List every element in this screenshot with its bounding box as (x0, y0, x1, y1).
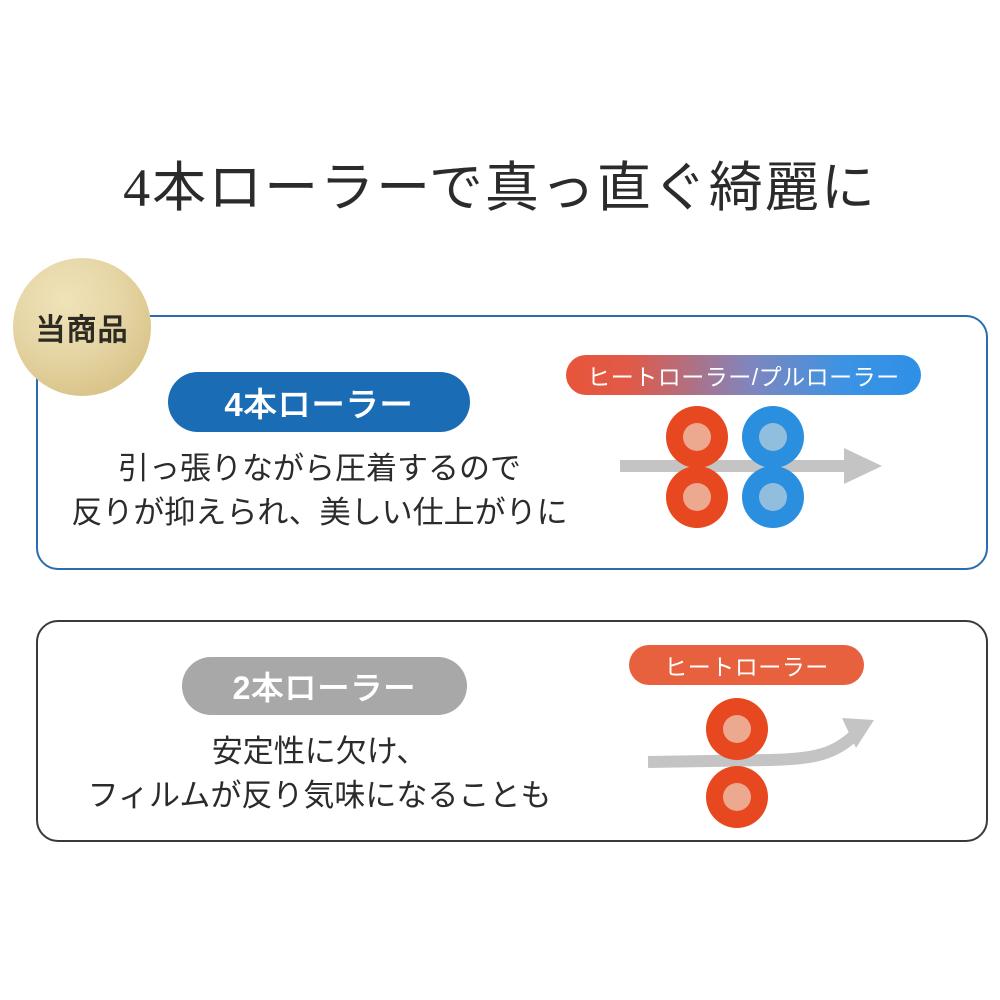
description-four-roller-line1: 引っ張りながら圧着するので (62, 447, 577, 491)
heat-roller-bottom-left (666, 466, 728, 528)
label-heat-roller: ヒートローラー (629, 645, 864, 685)
description-two-roller-line2: フィルムが反り気味になることも (62, 774, 577, 818)
diagram-two-roller (620, 690, 950, 840)
label-heat-pull-roller-text: ヒートローラー/プルローラー (587, 358, 899, 392)
description-four-roller: 引っ張りながら圧着するので 反りが抑えられ、美しい仕上がりに (62, 447, 577, 535)
heat-roller-top-core (723, 715, 751, 743)
pull-roller-bottom-right-core (759, 483, 787, 511)
film-path-curved-arrow (620, 690, 950, 840)
heat-roller-top-left (666, 406, 728, 468)
pull-roller-top-right-core (759, 423, 787, 451)
label-heat-roller-text: ヒートローラー (664, 648, 829, 682)
pull-roller-bottom-right (742, 466, 804, 528)
label-heat-pull-roller: ヒートローラー/プルローラー (566, 355, 921, 395)
tag-two-roller: 2本ローラー (182, 657, 467, 715)
description-two-roller: 安定性に欠け、 フィルムが反り気味になることも (62, 730, 577, 818)
tag-four-roller: 4本ローラー (168, 372, 470, 432)
this-product-badge: 当商品 (13, 258, 151, 396)
infographic-stage: 4本ローラーで真っ直ぐ綺麗に 当商品 4本ローラー 引っ張りながら圧着するので … (0, 0, 1000, 1000)
tag-two-roller-label: 2本ローラー (233, 663, 417, 709)
description-four-roller-line2: 反りが抑えられ、美しい仕上がりに (62, 491, 577, 535)
heat-roller-top-left-core (683, 423, 711, 451)
pull-roller-top-right (742, 406, 804, 468)
heat-roller-bottom-left-core (683, 483, 711, 511)
tag-four-roller-label: 4本ローラー (224, 378, 413, 426)
page-title: 4本ローラーで真っ直ぐ綺麗に (0, 155, 1000, 223)
diagram-four-roller (620, 398, 950, 548)
heat-roller-bottom (706, 766, 768, 828)
heat-roller-top (706, 698, 768, 760)
this-product-badge-label: 当商品 (36, 305, 129, 349)
heat-roller-bottom-core (723, 783, 751, 811)
description-two-roller-line1: 安定性に欠け、 (62, 730, 577, 774)
